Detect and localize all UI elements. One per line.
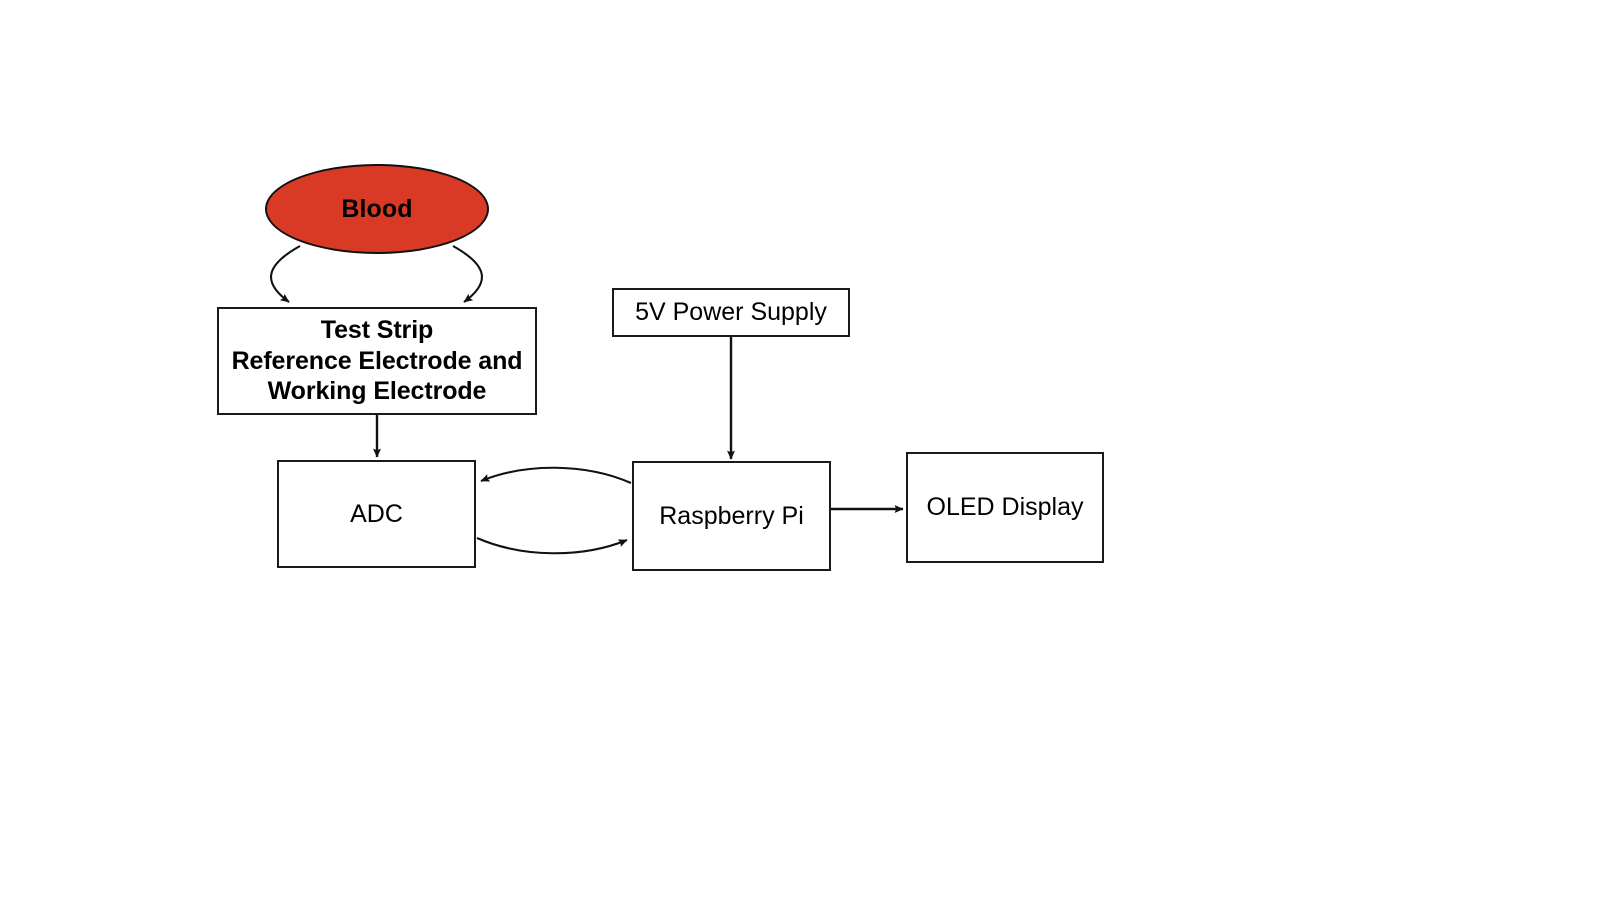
node-raspberry-pi-label: Raspberry Pi (659, 501, 804, 532)
node-oled-display-label: OLED Display (927, 492, 1084, 523)
node-power-supply-label: 5V Power Supply (635, 297, 827, 328)
node-raspberry-pi[interactable]: Raspberry Pi (632, 461, 831, 571)
edge-blood-to-test-strip-right (453, 246, 482, 302)
edge-layer (0, 0, 1600, 900)
node-blood[interactable]: Blood (265, 164, 489, 254)
node-test-strip[interactable]: Test Strip Reference Electrode and Worki… (217, 307, 537, 415)
node-adc-label: ADC (350, 499, 403, 530)
edge-raspberry-pi-to-adc (481, 468, 631, 483)
node-adc[interactable]: ADC (277, 460, 476, 568)
node-power-supply[interactable]: 5V Power Supply (612, 288, 850, 337)
node-test-strip-label: Test Strip Reference Electrode and Worki… (232, 315, 523, 407)
node-oled-display[interactable]: OLED Display (906, 452, 1104, 563)
edge-blood-to-test-strip-left (271, 246, 300, 302)
edge-adc-to-raspberry-pi (477, 538, 627, 553)
node-blood-label: Blood (341, 194, 412, 225)
diagram-canvas: Blood Test Strip Reference Electrode and… (0, 0, 1600, 900)
